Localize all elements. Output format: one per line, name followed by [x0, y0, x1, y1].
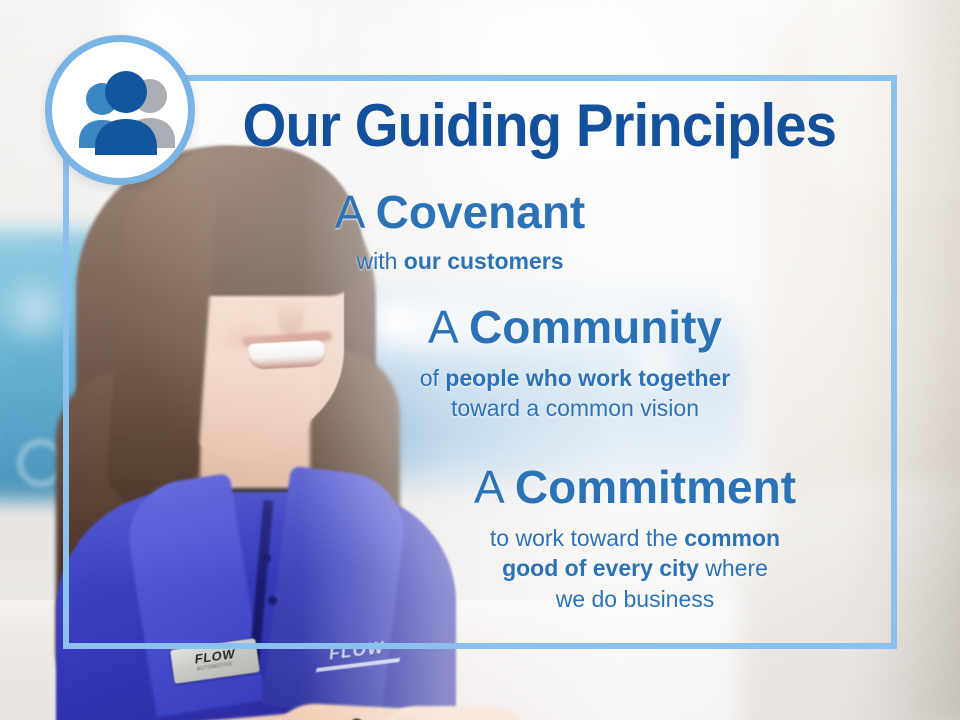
commitment-heading: A Commitment: [390, 463, 880, 513]
commitment-d2-bold: good of every city: [502, 555, 699, 581]
polo-button-top: [262, 554, 271, 563]
community-heading: A Community: [330, 303, 820, 353]
commitment-detail-line-2: good of every city where: [390, 553, 880, 584]
covenant-detail: with our customers: [250, 246, 670, 277]
smile-teeth: [247, 340, 326, 370]
community-detail-line-1: of people who work together: [330, 363, 820, 394]
covenant-keyword: Covenant: [376, 186, 586, 238]
page-title: Our Guiding Principles: [215, 96, 864, 156]
principle-community: A Community of people who work together …: [330, 303, 820, 424]
community-detail: of people who work together toward a com…: [330, 363, 820, 425]
people-group-badge: [45, 35, 195, 185]
covenant-detail-plain: with: [356, 248, 403, 274]
commitment-d1-bold: common: [684, 525, 780, 551]
commitment-d1-plain: to work toward the: [490, 525, 684, 551]
nose: [278, 298, 304, 334]
community-detail-line-2: toward a common vision: [330, 393, 820, 424]
covenant-lead: A: [335, 186, 376, 238]
community-detail-bold: people who work together: [445, 365, 730, 391]
community-lead: A: [428, 301, 469, 353]
community-keyword: Community: [469, 301, 722, 353]
covenant-heading: A Covenant: [250, 188, 670, 238]
principle-commitment: A Commitment to work toward the common g…: [390, 463, 880, 615]
covenant-detail-bold: our customers: [404, 248, 564, 274]
people-group-icon: [72, 68, 180, 164]
commitment-detail-line-1: to work toward the common: [390, 523, 880, 554]
commitment-detail: to work toward the common good of every …: [390, 523, 880, 615]
fg-shading: [870, 0, 960, 720]
polo-button-bottom: [268, 596, 277, 605]
commitment-detail-line-3: we do business: [390, 584, 880, 615]
commitment-lead: A: [474, 461, 515, 513]
commitment-keyword: Commitment: [515, 461, 796, 513]
poster-canvas: FLOW FLOW AUTOMOTIVE: [0, 0, 960, 720]
community-detail-plain: of: [420, 365, 446, 391]
principle-covenant: A Covenant with our customers: [250, 188, 670, 276]
commitment-d2-plain: where: [699, 555, 768, 581]
